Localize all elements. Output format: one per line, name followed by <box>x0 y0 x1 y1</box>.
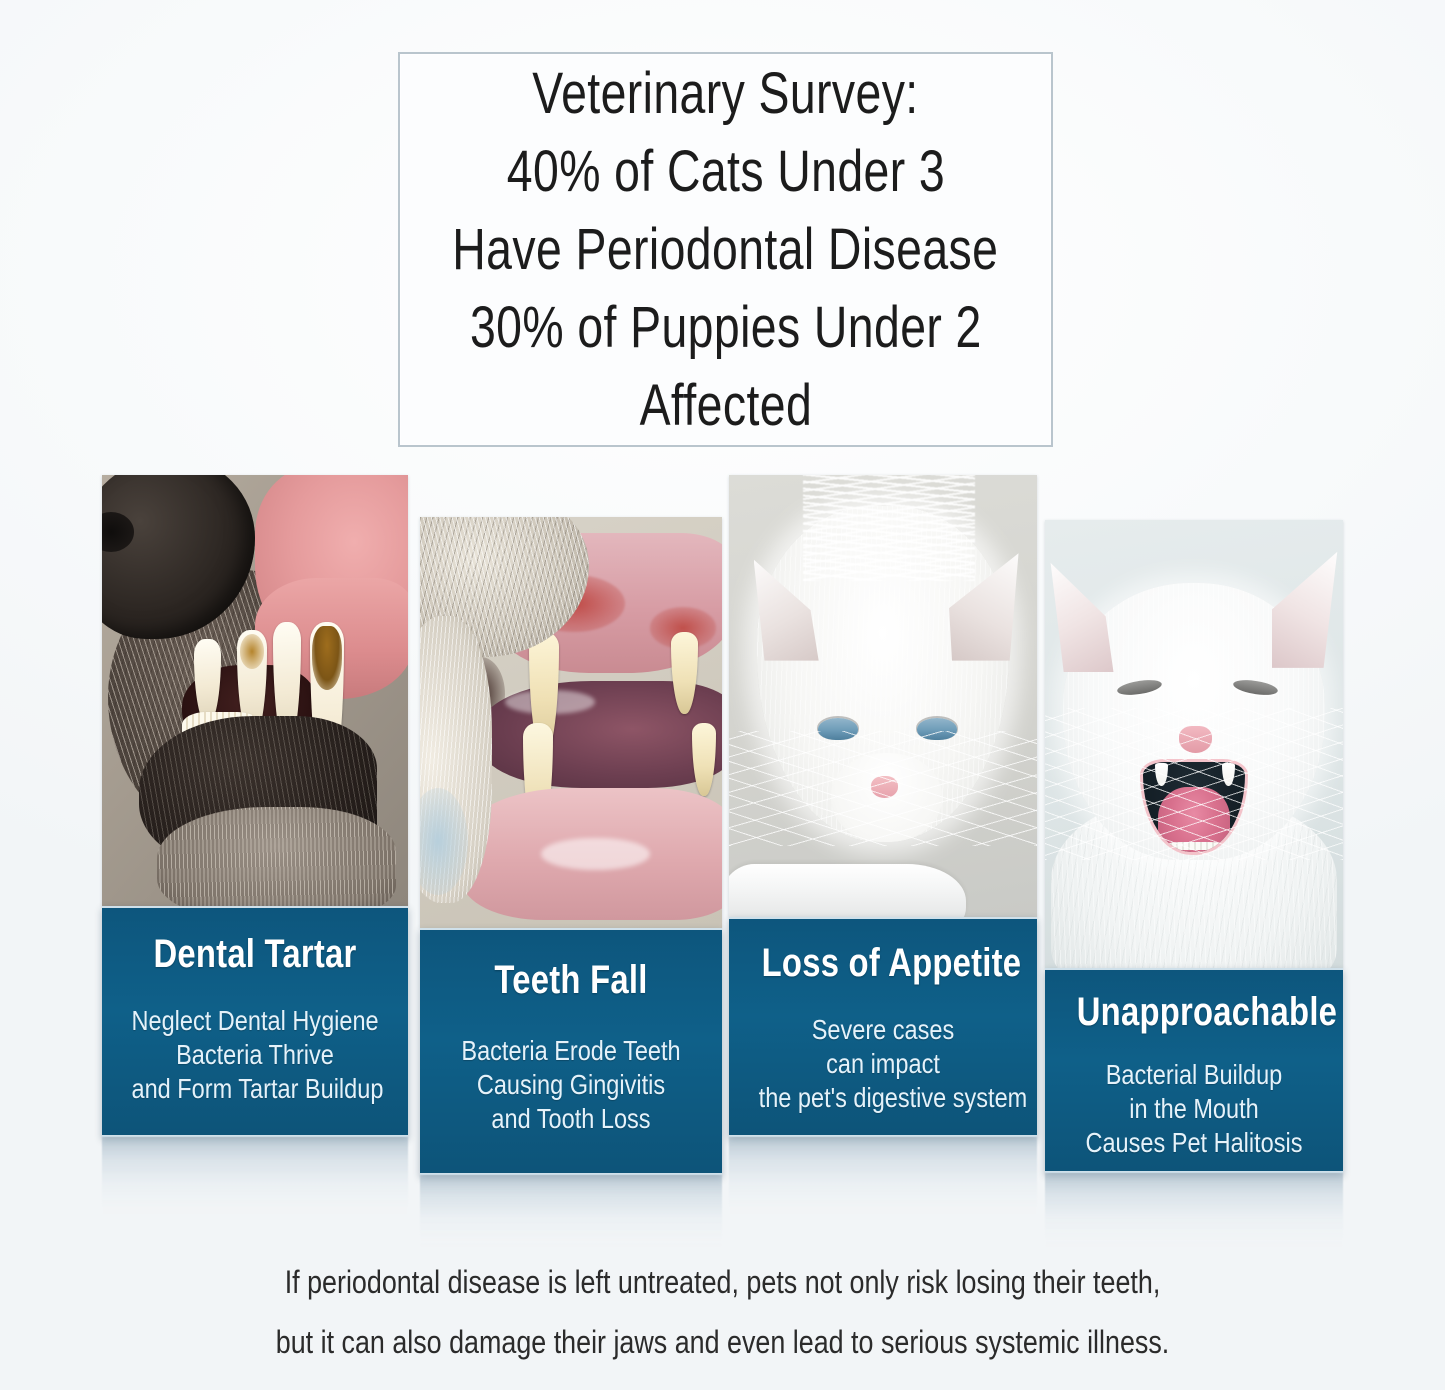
symptom-card-unapproachable: Unapproachable Bacterial Buildup in the … <box>1045 520 1343 1173</box>
card-body-line: and Form Tartar Buildup <box>132 1072 379 1106</box>
caption-line-1: If periodontal disease is left untreated… <box>116 1252 1330 1312</box>
card-title: Teeth Fall <box>452 958 690 1002</box>
photo-shape-head-tuft <box>803 475 975 581</box>
card-reflection <box>729 1137 1037 1219</box>
cat-gingivitis-photo <box>420 517 722 928</box>
symptom-card-teeth-fall: Teeth Fall Bacteria Erode Teeth Causing … <box>420 517 722 1175</box>
caption-line-2: but it can also damage their jaws and ev… <box>116 1312 1330 1372</box>
headline-line-5: Affected <box>639 367 812 445</box>
card-body-line: Bacteria Thrive <box>132 1038 379 1072</box>
survey-headline-box: Veterinary Survey: 40% of Cats Under 3 H… <box>398 52 1053 447</box>
photo-shape-whiskers <box>729 731 1037 846</box>
card-band-loss-of-appetite: Loss of Appetite Severe cases can impact… <box>729 917 1037 1137</box>
card-band-unapproachable: Unapproachable Bacterial Buildup in the … <box>1045 968 1343 1173</box>
photo-shape-right-ear <box>1272 547 1341 668</box>
photo-shape-tartar-stain <box>240 634 264 668</box>
photo-shape-tooth <box>692 723 716 797</box>
cat-bad-breath-photo <box>1045 520 1343 968</box>
card-reflection <box>102 1137 408 1219</box>
footer-caption: If periodontal disease is left untreated… <box>0 1252 1445 1372</box>
card-body-line: can impact <box>759 1047 1008 1081</box>
card-body-line: Causes Pet Halitosis <box>1074 1126 1314 1160</box>
card-reflection <box>420 1175 722 1249</box>
headline-line-1: Veterinary Survey: <box>532 55 918 133</box>
photo-shape-chin-fur <box>157 807 396 906</box>
card-body-line: in the Mouth <box>1074 1092 1314 1126</box>
card-body-line: Severe cases <box>759 1013 1008 1047</box>
card-reflection <box>1045 1173 1343 1249</box>
headline-line-4: 30% of Puppies Under 2 <box>470 289 982 367</box>
headline-line-2: 40% of Cats Under 3 <box>506 133 944 211</box>
card-body-line: and Tooth Loss <box>449 1102 693 1136</box>
card-body-line: Causing Gingivitis <box>449 1068 693 1102</box>
cat-refusing-food-photo <box>729 475 1037 917</box>
headline-line-3: Have Periodontal Disease <box>452 211 998 289</box>
card-body-line: Bacterial Buildup <box>1074 1058 1314 1092</box>
card-title: Loss of Appetite <box>762 941 1005 985</box>
symptom-card-loss-of-appetite: Loss of Appetite Severe cases can impact… <box>729 475 1037 1137</box>
card-band-teeth-fall: Teeth Fall Bacteria Erode Teeth Causing … <box>420 928 722 1175</box>
card-title: Dental Tartar <box>134 932 375 976</box>
card-body-line: Neglect Dental Hygiene <box>132 1004 379 1038</box>
card-band-dental-tartar: Dental Tartar Neglect Dental Hygiene Bac… <box>102 906 408 1137</box>
card-body-line: Bacteria Erode Teeth <box>449 1034 693 1068</box>
card-body-line: the pet's digestive system <box>759 1081 1008 1115</box>
card-title: Unapproachable <box>1077 990 1312 1034</box>
photo-shape-whiskers <box>1045 708 1343 860</box>
symptom-card-dental-tartar: Dental Tartar Neglect Dental Hygiene Bac… <box>102 475 408 1137</box>
dog-tartar-teeth-photo <box>102 475 408 906</box>
photo-shape-food-bowl <box>729 864 966 917</box>
photo-shape-lip-gloss <box>541 838 650 871</box>
